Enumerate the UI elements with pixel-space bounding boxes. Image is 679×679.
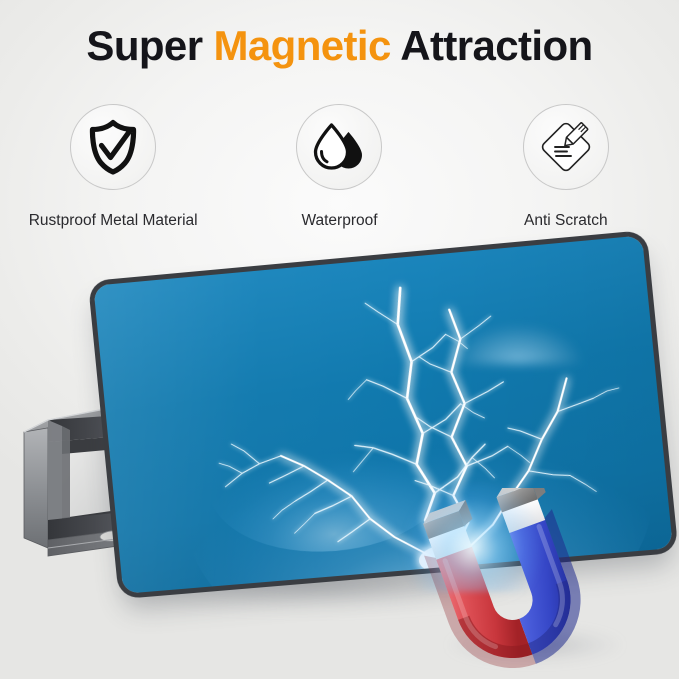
title-part-2: Attraction bbox=[391, 22, 593, 69]
product-infographic-poster: Super Magnetic Attraction Rustproof Meta… bbox=[0, 0, 679, 679]
feature-label: Rustproof Metal Material bbox=[29, 212, 198, 230]
horseshoe-magnet bbox=[398, 488, 668, 678]
title-part-1: Super bbox=[86, 22, 213, 69]
shield-check-icon bbox=[86, 119, 140, 175]
feature-item-waterproof: Waterproof bbox=[226, 104, 452, 230]
feature-item-rustproof: Rustproof Metal Material bbox=[0, 104, 226, 230]
feature-label: Waterproof bbox=[301, 212, 377, 230]
anti-scratch-icon bbox=[536, 117, 596, 177]
water-drop-icon bbox=[310, 118, 368, 176]
title-block: Super Magnetic Attraction bbox=[0, 24, 679, 68]
product-scene bbox=[0, 250, 679, 679]
feature-item-anti-scratch: Anti Scratch bbox=[453, 104, 679, 230]
feature-list: Rustproof Metal Material Waterproof bbox=[0, 104, 679, 230]
feature-icon-badge bbox=[70, 104, 156, 190]
feature-label: Anti Scratch bbox=[524, 212, 608, 230]
feature-icon-badge bbox=[523, 104, 609, 190]
title-highlight-word: Magnetic bbox=[214, 22, 391, 69]
feature-icon-badge bbox=[296, 104, 382, 190]
page-title: Super Magnetic Attraction bbox=[0, 24, 679, 68]
